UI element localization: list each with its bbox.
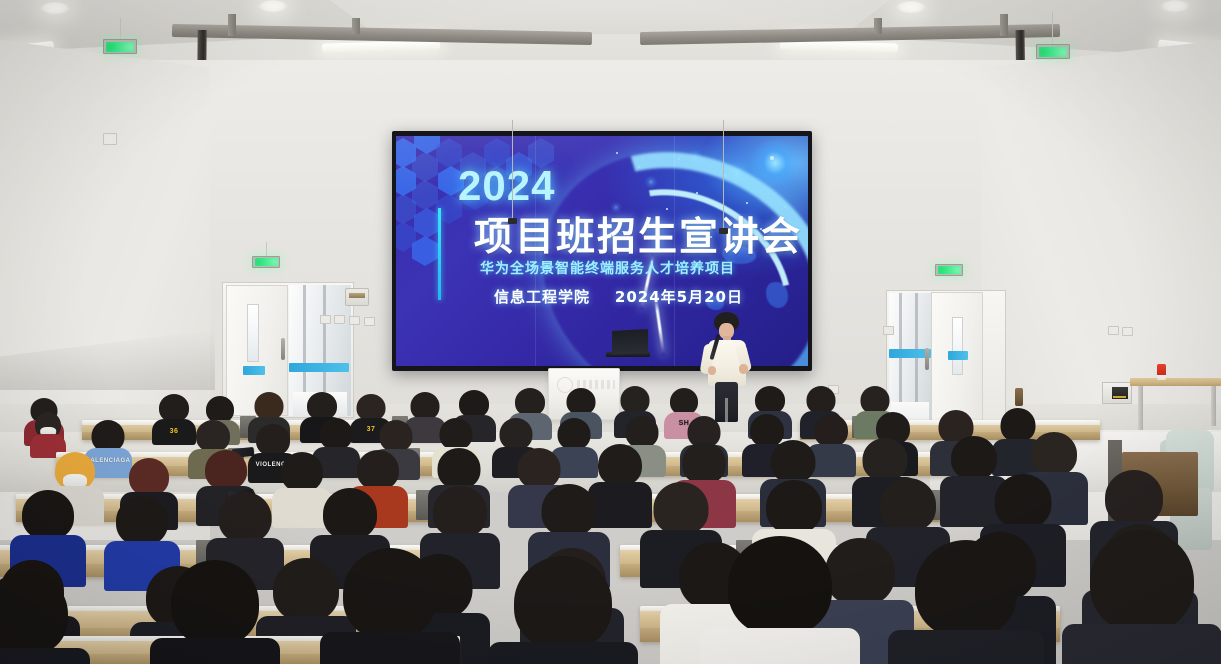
person-head (807, 386, 836, 414)
exit-sign-icon (255, 258, 278, 266)
ceiling-pot-light (258, 0, 288, 13)
right-door-leaf[interactable] (931, 292, 983, 428)
wall-socket[interactable] (1122, 327, 1133, 336)
person-head (357, 450, 399, 490)
person-head (755, 386, 785, 414)
audience-member-foreground (488, 556, 638, 664)
person-head (411, 392, 440, 420)
floor-marker-post (1015, 388, 1023, 406)
person-torso (888, 630, 1044, 664)
person-head (255, 392, 284, 420)
exit-sign-hanger (1052, 12, 1053, 44)
person-head (323, 488, 377, 540)
person-head (1090, 530, 1194, 632)
person-head (728, 536, 832, 636)
person-head (171, 560, 259, 646)
slide-footer-date-text: 2024年5月20日 (615, 288, 743, 306)
door-signage-band (289, 363, 349, 372)
slide-accent-bar (438, 208, 441, 300)
presenter-left-hand (708, 366, 716, 375)
wall-socket[interactable] (883, 326, 894, 335)
person-head (320, 418, 353, 450)
exit-sign-icon (938, 266, 961, 274)
presenter (700, 312, 752, 420)
audience-member-foreground (320, 548, 460, 664)
utility-box-interior (1112, 387, 1128, 399)
person-torso (150, 638, 280, 664)
person-torso (1062, 624, 1221, 664)
audience-member-foreground (888, 540, 1044, 664)
exit-sign-left (103, 39, 137, 54)
ceiling-pot-light (1160, 0, 1190, 13)
person-head (440, 418, 473, 450)
person-head (766, 480, 822, 534)
laptop-screen (612, 329, 648, 355)
wall-utility-box[interactable] (1102, 382, 1132, 404)
audience-member (30, 412, 66, 454)
person-head (281, 452, 323, 492)
person-head (995, 474, 1052, 529)
utility-box-label (1113, 396, 1126, 398)
person-head (515, 388, 545, 416)
person-head (654, 482, 709, 535)
right-door-handle[interactable] (925, 348, 929, 370)
wall-socket[interactable] (1108, 326, 1119, 335)
door-signage-band (948, 351, 968, 360)
person-head (863, 438, 908, 481)
person-head-blonde (55, 452, 95, 490)
wall-socket[interactable] (349, 316, 360, 325)
person-head (438, 448, 481, 489)
person-head (500, 418, 533, 450)
exit-sign-over-right-door (935, 264, 963, 276)
person-torso (320, 632, 460, 664)
left-door-handle[interactable] (281, 338, 285, 360)
slide-footer-org-text: 信息工程学院 (494, 288, 590, 306)
person-head (380, 420, 413, 452)
person-head (598, 444, 642, 486)
person-head (433, 486, 487, 538)
person-head (514, 556, 612, 650)
person-head (205, 450, 247, 490)
person-head (567, 388, 596, 415)
person-head (343, 548, 437, 640)
wall-socket[interactable] (364, 317, 375, 326)
ceiling-pot-light (896, 1, 926, 14)
wall-socket[interactable] (334, 315, 345, 324)
person-head (0, 572, 68, 656)
person-head (116, 496, 168, 546)
cable-clamp (719, 228, 728, 234)
person-head (682, 442, 726, 484)
person-head (518, 448, 561, 489)
ceiling-pot-light (40, 2, 70, 15)
slide-title-text: 项目班招生宣讲会 (474, 206, 802, 262)
slide-subtitle-text: 华为全场景智能终端服务人才培养项目 (480, 258, 735, 278)
person-head (129, 458, 169, 496)
led-panel-seam (674, 136, 675, 366)
exit-sign-over-left-door (252, 256, 280, 268)
person-head (1031, 432, 1077, 476)
person-head (861, 386, 890, 414)
person-torso (488, 642, 638, 664)
beam-bracket (1000, 14, 1008, 36)
lecture-hall-photo: 2024 项目班招生宣讲会 华为全场景智能终端服务人才培养项目 信息工程学院 2… (0, 0, 1221, 664)
led-panel-seam (535, 136, 536, 366)
person-torso (700, 628, 860, 664)
person-head (459, 390, 489, 418)
audience-member-foreground (700, 536, 860, 664)
person-head (22, 490, 74, 540)
exit-sign-hanger (120, 18, 121, 40)
exit-sign-icon (1039, 47, 1067, 57)
person-head (307, 392, 337, 420)
side-table-leg (1211, 386, 1216, 426)
person-head (880, 478, 936, 532)
person-head (542, 484, 597, 537)
presenter-right-hand (739, 364, 748, 374)
exit-sign-icon (106, 42, 134, 52)
audience-member-foreground (1062, 530, 1221, 664)
audience-member-foreground (150, 560, 280, 664)
panel-slot (349, 293, 365, 297)
person-head (670, 388, 698, 415)
wall-control-panel[interactable] (345, 288, 369, 306)
beam-bracket (228, 14, 236, 36)
person-head (159, 394, 189, 422)
audience-member-foreground (0, 572, 90, 664)
beam-bracket (352, 18, 360, 34)
person-head (771, 440, 816, 483)
hanging-cable (723, 120, 724, 230)
side-table-leg (1138, 386, 1143, 430)
person-head (219, 492, 272, 543)
door-vision-panel (952, 317, 963, 375)
person-head (621, 386, 650, 414)
person-head (196, 420, 230, 452)
person-head (206, 396, 234, 423)
side-table (1130, 378, 1221, 386)
slide-year-text: 2024 (458, 162, 555, 210)
wall-socket[interactable] (320, 315, 331, 324)
wall-socket[interactable] (103, 133, 117, 145)
person-head (357, 394, 386, 421)
slide-footer-org: 信息工程学院 2024年5月20日 (494, 286, 743, 307)
red-can (1157, 364, 1166, 380)
shirt-graphic: 36 (170, 428, 179, 435)
exit-sign-right (1036, 44, 1070, 59)
door-signage-band (243, 366, 265, 375)
person-torso (0, 648, 90, 664)
beam-bracket (874, 18, 882, 34)
door-vision-panel (247, 304, 259, 362)
person-head (1105, 470, 1163, 526)
cable-clamp (508, 218, 517, 224)
person-head (915, 540, 1017, 638)
hanging-cable (512, 120, 513, 220)
person-head (558, 418, 591, 450)
